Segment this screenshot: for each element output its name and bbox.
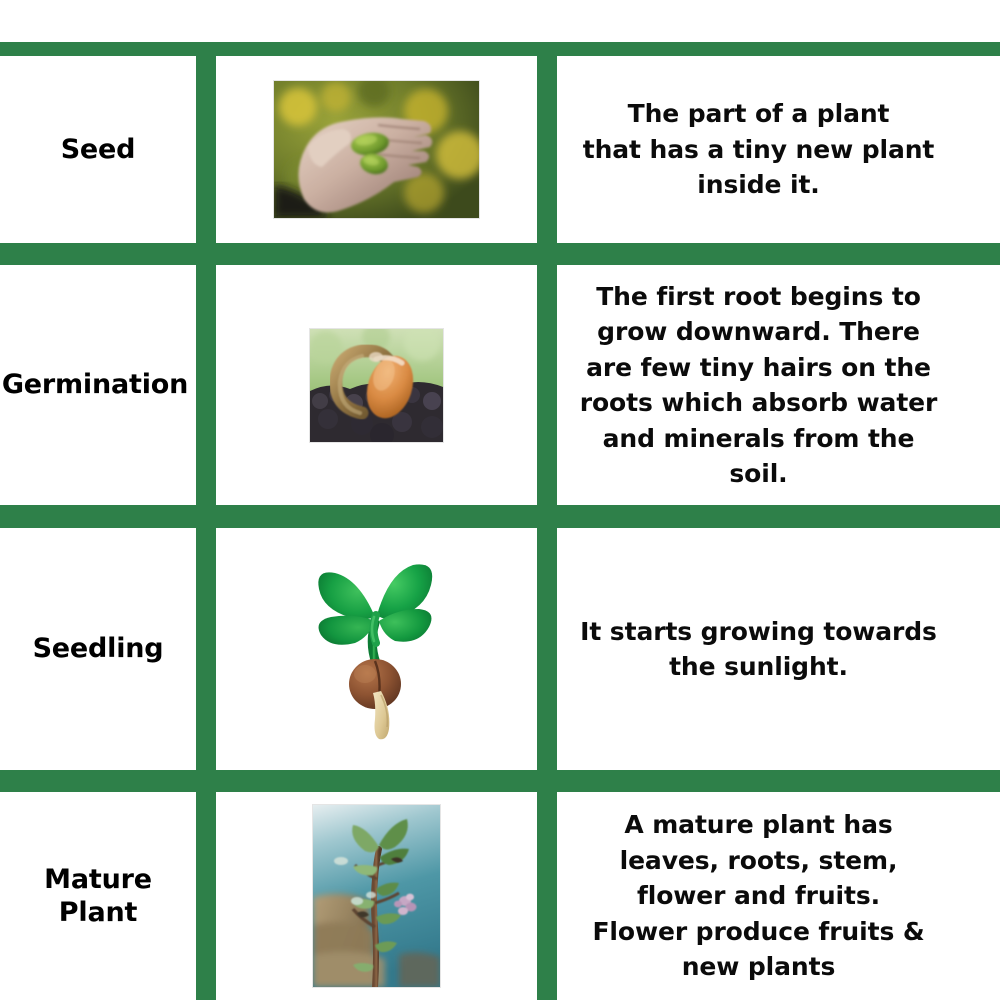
plant-growth-table: Seed [0,0,1000,1000]
description-cell: The first root begins togrow downward. T… [537,265,980,505]
table-row: Germination [0,265,1000,505]
illustration-cell [216,56,537,243]
seedling-illustration [297,551,457,747]
description-text: The part of a plantthat has a tiny new p… [571,96,947,203]
description-text: The first root begins togrow downward. T… [568,279,950,492]
stage-label: Germination [2,368,188,401]
stage-name-cell: Germination [0,265,196,505]
grid-gap [196,56,216,243]
grid-gap [196,265,216,505]
row-divider-germination-seedling [0,505,1000,528]
illustration-cell [216,528,537,770]
illustration-cell [216,792,537,1000]
stage-name-cell: MaturePlant [0,792,196,1000]
table-row: MaturePlant [0,792,1000,1000]
germinating-seed-photo [310,329,443,442]
hand-holding-seeds-photo [274,81,479,218]
description-cell: The part of a plantthat has a tiny new p… [537,56,980,243]
illustration-cell [216,265,537,505]
mature-plant-photo [313,805,440,987]
stage-label: Seed [61,133,136,166]
description-text: A mature plant hasleaves, roots, stem,fl… [580,807,936,985]
stage-label: Seedling [33,632,164,665]
table-row: Seedling [0,528,1000,770]
grid-gap [196,528,216,770]
table-row: Seed [0,56,1000,243]
grid-gap [196,792,216,1000]
stage-name-cell: Seedling [0,528,196,770]
description-cell: It starts growing towardsthe sunlight. [537,528,980,770]
description-cell: A mature plant hasleaves, roots, stem,fl… [537,792,980,1000]
row-divider-seedling-mature [0,770,1000,792]
table-top-border [0,42,1000,56]
stage-name-cell: Seed [0,56,196,243]
row-divider-seed-germination [0,243,1000,265]
stage-label: MaturePlant [44,863,152,930]
description-text: It starts growing towardsthe sunlight. [568,614,949,685]
